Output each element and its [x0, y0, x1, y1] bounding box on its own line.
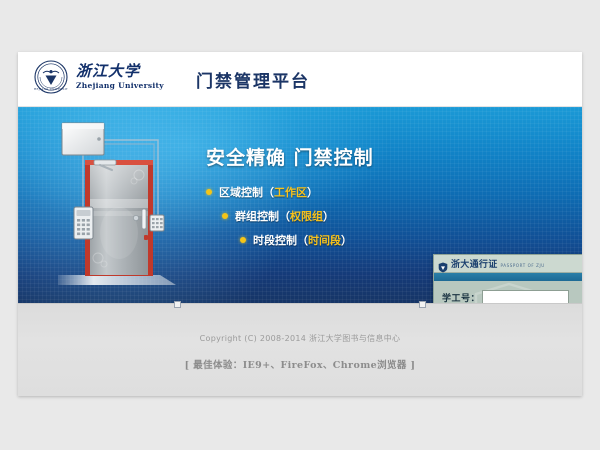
page-title: 门禁管理平台 [196, 67, 310, 92]
passport-strip: PASSPORT OF ZJUPASSPORT OF ZJUPASSPORT O… [434, 273, 582, 281]
login-card-title-cn: 浙大通行证 [451, 257, 498, 270]
svg-text:ZHEJIANG UNIVERSITY: ZHEJIANG UNIVERSITY [34, 87, 68, 91]
login-form: 学工号： 密 码： 登录 登录添加 校园卡密码登录 [434, 281, 582, 303]
footer-handle-left [174, 301, 181, 308]
field-row-username: 学工号： [442, 290, 582, 303]
banner-copy: 安全精确 门禁控制 区域控制（工作区） 群组控制（权限组） 时段控制（时间段） [206, 143, 426, 256]
feature-text: 群组控制（ [235, 208, 290, 224]
university-logo[interactable]: ZHEJIANG UNIVERSITY 浙江大学 Zhejiang Univer… [34, 60, 164, 94]
feature-text: 区域控制（ [219, 184, 274, 200]
bullet-dot-icon [206, 189, 212, 195]
feature-item-area-control: 区域控制（工作区） [206, 184, 426, 200]
zhejiang-university-seal-icon: ZHEJIANG UNIVERSITY [34, 60, 68, 94]
feature-highlight: 时间段 [308, 232, 341, 248]
site-header: ZHEJIANG UNIVERSITY 浙江大学 Zhejiang Univer… [18, 52, 582, 107]
feature-text: 时段控制（ [253, 232, 308, 248]
feature-tail: ） [323, 208, 334, 224]
hero-banner: 安全精确 门禁控制 区域控制（工作区） 群组控制（权限组） 时段控制（时间段） [18, 107, 582, 303]
login-panel: 浙大通行证 PASSPORT OF ZJU PASSPORT OF ZJUPAS… [433, 254, 582, 303]
feature-item-time-control: 时段控制（时间段） [240, 232, 426, 248]
university-name-cn: 浙江大学 [76, 64, 164, 79]
shield-icon [438, 258, 448, 269]
username-label: 学工号： [442, 291, 482, 303]
feature-item-group-control: 群组控制（权限组） [222, 208, 426, 224]
university-name-en: Zhejiang University [76, 82, 164, 90]
footer-handle-right [419, 301, 426, 308]
access-control-door-illustration [42, 115, 202, 301]
feature-tail: ） [307, 184, 318, 200]
login-card-header: 浙大通行证 PASSPORT OF ZJU [434, 255, 582, 273]
bullet-dot-icon [240, 237, 246, 243]
feature-tail: ） [341, 232, 352, 248]
browser-compatibility-note: [ 最佳体验：IE9+、FireFox、Chrome浏览器 ] [18, 357, 582, 371]
site-footer: Copyright (C) 2008-2014 浙江大学图书与信息中心 [ 最佳… [18, 303, 582, 396]
university-wordmark: 浙江大学 Zhejiang University [76, 64, 164, 90]
copyright-text: Copyright (C) 2008-2014 浙江大学图书与信息中心 [18, 333, 582, 344]
feature-list: 区域控制（工作区） 群组控制（权限组） 时段控制（时间段） [206, 184, 426, 248]
hero-heading: 安全精确 门禁控制 [206, 143, 426, 170]
login-card-title-en: PASSPORT OF ZJU [501, 263, 545, 268]
feature-highlight: 权限组 [290, 208, 323, 224]
username-input[interactable] [482, 290, 569, 303]
feature-highlight: 工作区 [274, 184, 307, 200]
bullet-dot-icon [222, 213, 228, 219]
page-container: ZHEJIANG UNIVERSITY 浙江大学 Zhejiang Univer… [18, 52, 582, 396]
